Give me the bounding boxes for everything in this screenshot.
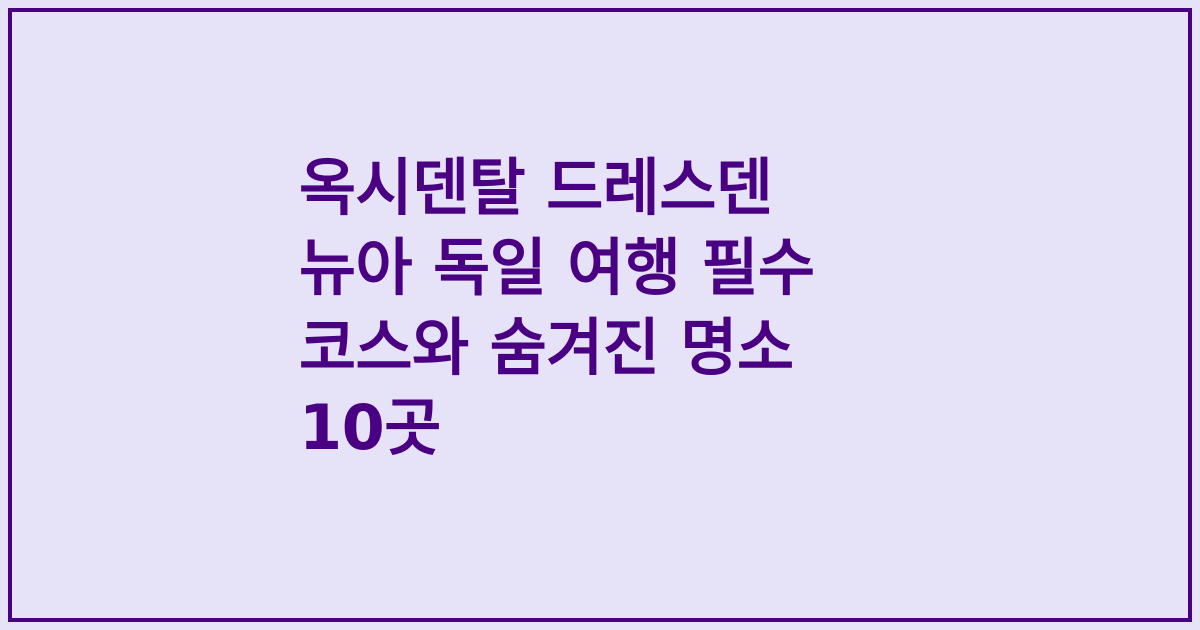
card-border-frame: 옥시덴탈 드레스덴 뉴아 독일 여행 필수 코스와 숨겨진 명소 10곳 bbox=[8, 8, 1192, 622]
thumbnail-card: 옥시덴탈 드레스덴 뉴아 독일 여행 필수 코스와 숨겨진 명소 10곳 bbox=[0, 0, 1200, 630]
title-line-3: 코스와 숨겨진 명소 bbox=[299, 308, 939, 388]
title-line-2: 뉴아 독일 여행 필수 bbox=[299, 228, 939, 308]
title-line-1: 옥시덴탈 드레스덴 bbox=[299, 148, 939, 228]
title-line-4: 10곳 bbox=[299, 388, 939, 468]
page-title: 옥시덴탈 드레스덴 뉴아 독일 여행 필수 코스와 숨겨진 명소 10곳 bbox=[299, 148, 939, 468]
